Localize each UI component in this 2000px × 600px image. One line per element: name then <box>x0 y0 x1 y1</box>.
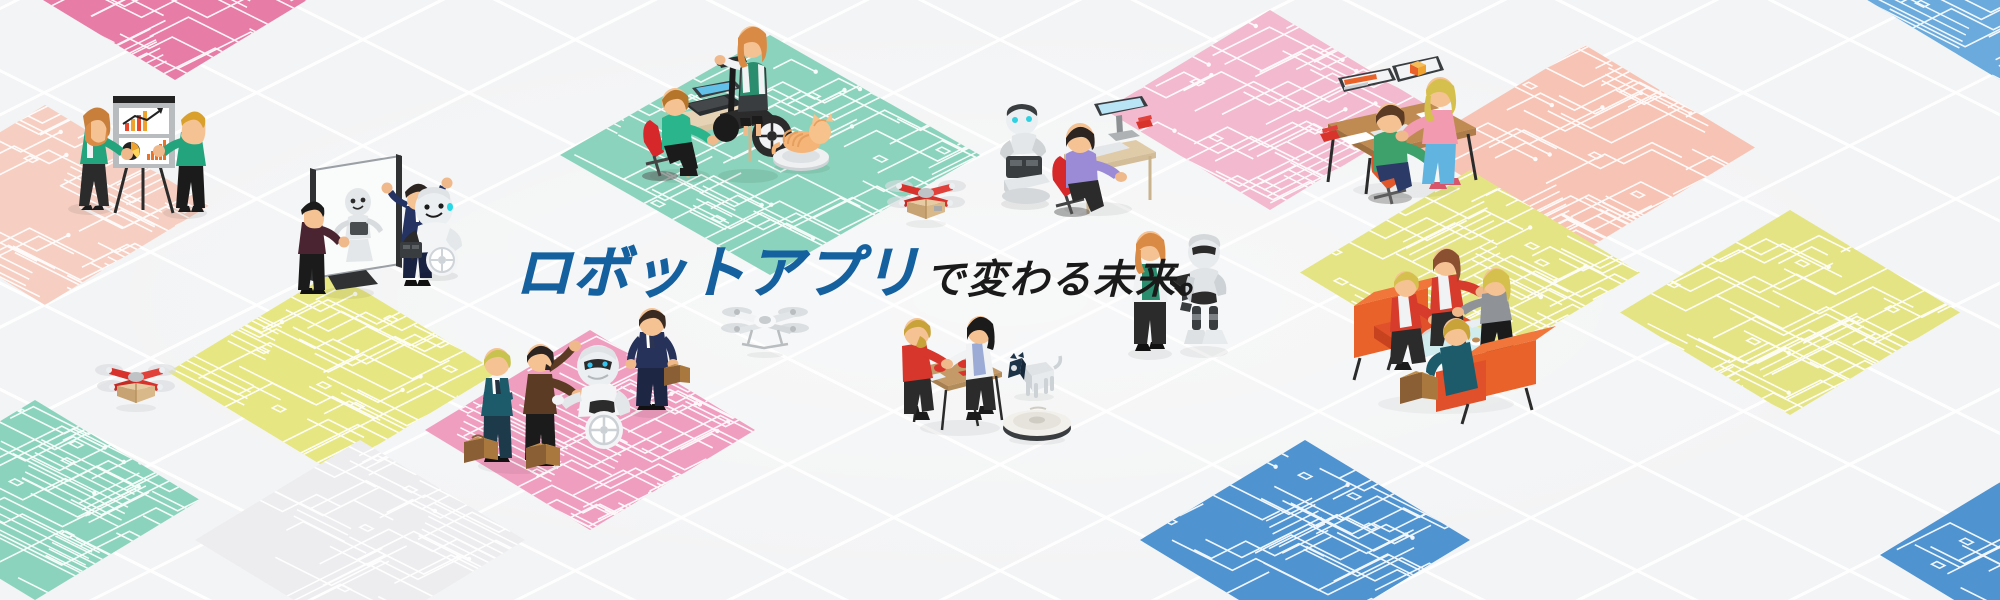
presentation-easel <box>55 78 245 218</box>
delivery-drone-left <box>95 352 177 412</box>
dual-monitor-team <box>1310 48 1500 198</box>
isometric-grid-background <box>0 0 2000 600</box>
wheeled-robot-left <box>398 186 478 281</box>
woman-robot-books <box>1118 226 1243 361</box>
cat-on-roomba <box>762 112 840 174</box>
imac-desk-worker <box>1038 96 1158 216</box>
roomba-bottom <box>1000 398 1074 444</box>
hero-banner: ロボットアプリ で変わる未来。 <box>0 0 2000 600</box>
handshake-robot <box>458 306 638 476</box>
quadcopter-white <box>722 298 808 358</box>
lounge-meeting <box>1336 222 1556 417</box>
delivery-drone-mid <box>885 168 967 228</box>
robot-dog <box>1002 352 1062 400</box>
businessman-briefcase <box>622 314 692 419</box>
